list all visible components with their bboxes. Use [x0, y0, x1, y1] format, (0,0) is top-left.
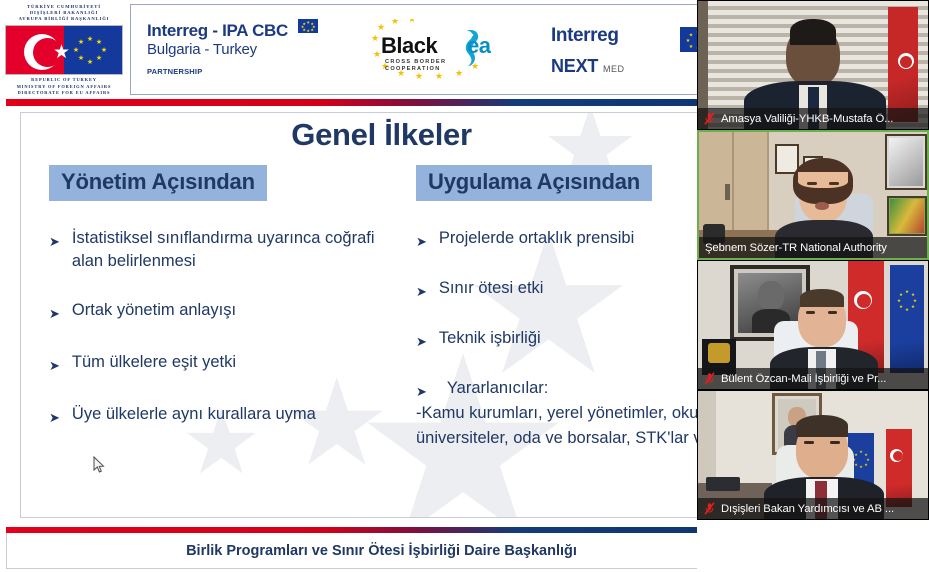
svg-text:★: ★ [854, 452, 858, 457]
bullet-item: ➤ Sınır ötesi etki [416, 277, 736, 303]
bullet-text: Sınır ötesi etki [439, 277, 736, 303]
bullet-item: ➤ İstatistiksel sınıflandırma uyarınca c… [49, 227, 399, 273]
turkey-eu-flag-graphic: ★ ★ ★ ★ ★ ★ ★ ★ ★ [5, 25, 123, 76]
next-word: NEXT [551, 56, 598, 76]
microphone-muted-icon [704, 372, 715, 385]
participant-name-bar: Şebnem Sözer-TR National Authority [699, 237, 927, 258]
svg-text:★: ★ [911, 304, 916, 309]
svg-text:★: ★ [899, 304, 904, 309]
beneficiaries-text: -Kamu kurumları, yerel yönetimler, okull… [416, 401, 736, 451]
svg-text:★: ★ [854, 462, 858, 467]
turkish-ministry-emblem: TÜRKİYE CUMHURİYETİ DIŞİŞLERİ BAKANLIĞI … [2, 3, 126, 96]
bullet-item: ➤ Ortak yönetim anlayışı [49, 299, 399, 325]
chevron-right-icon: ➤ [49, 351, 60, 377]
svg-text:★: ★ [859, 449, 863, 454]
participant-name-bar: Dışişleri Bakan Yardımcısı ve AB ... [698, 498, 928, 519]
bullet-text: Üye ülkelerle aynı kurallara uyma [72, 403, 399, 429]
chevron-right-icon: ➤ [416, 227, 427, 253]
meeting-screen-share-window: TÜRKİYE CUMHURİYETİ DIŞİŞLERİ BAKANLIĞI … [0, 0, 929, 572]
bullet-item: ➤ Tüm ülkelere eşit yetki [49, 351, 399, 377]
svg-text:★: ★ [87, 35, 93, 43]
svg-text:★: ★ [686, 38, 691, 44]
chevron-right-icon: ➤ [416, 327, 427, 353]
right-column-heading: Uygulama Açısından [416, 165, 652, 201]
bullet-text: Tüm ülkelere eşit yetki [72, 351, 399, 377]
svg-text:★: ★ [864, 462, 868, 467]
interreg-ipa-cbc-logo: Interreg - IPA CBC ★ ★ ★ ★ ★ ★ ★ ★ [147, 19, 318, 76]
chevron-right-icon: ➤ [416, 277, 427, 303]
participant-name: Şebnem Sözer-TR National Authority [705, 242, 887, 254]
black-sea-basin-logo: ★★ ★ ★ ★★ ★★ ★★ ★ Black ea [363, 17, 523, 87]
participant-name: Amasya Valiliği-YHKB-Mustafa Ö... [721, 113, 893, 125]
bullet-text: Teknik işbirliği [439, 327, 736, 353]
svg-text:★: ★ [391, 19, 399, 26]
svg-text:★: ★ [905, 307, 910, 312]
blacksea-word-sea: ea [467, 33, 490, 59]
svg-text:★: ★ [96, 54, 102, 62]
bullet-item: ➤ Teknik işbirliği [416, 327, 736, 353]
svg-text:★: ★ [913, 298, 918, 303]
video-tile[interactable]: ★ ★ ★ ★ ★ ★ ★ ★ [697, 260, 929, 390]
svg-text:★: ★ [73, 46, 79, 54]
slide-right-column: Uygulama Açısından ➤ Projelerde ortaklık… [416, 165, 736, 451]
svg-text:★: ★ [78, 38, 84, 46]
mouse-cursor-icon [93, 456, 105, 474]
bullet-text: İstatistiksel sınıflandırma uyarınca coğ… [72, 227, 399, 273]
svg-text:★: ★ [689, 44, 694, 50]
video-tile[interactable]: ★ ★ ★ ★ ★ ★ ★ ★ [697, 390, 929, 520]
microphone-muted-icon [704, 502, 715, 515]
video-tile-active-speaker[interactable]: Şebnem Sözer-TR National Authority [697, 130, 929, 260]
beneficiaries-label: Yararlanıcılar: [439, 377, 736, 403]
svg-text:★: ★ [899, 292, 904, 297]
svg-text:★: ★ [87, 58, 93, 66]
svg-text:★: ★ [78, 54, 84, 62]
video-tile[interactable]: Amasya Valiliği-YHKB-Mustafa Ö... [697, 0, 929, 130]
slide-left-column: Yönetim Açısından ➤ İstatistiksel sınıfl… [49, 165, 399, 455]
chevron-right-icon: ➤ [49, 299, 60, 325]
interreg-next-med-logo: Interreg NEXT MED [551, 25, 625, 77]
bullet-text: Projelerde ortaklık prensibi [439, 227, 736, 253]
partnership-label: PARTNERSHIP [147, 67, 318, 76]
eu-flag-icon: ★ ★ ★ ★ ★ ★ ★ ★ [298, 19, 318, 33]
participant-name-bar: Bülent Özcan-Mali İşbirliği ve Pr... [698, 368, 928, 389]
interreg-ipa-subtitle: Bulgaria - Turkey [147, 41, 318, 58]
svg-text:★: ★ [371, 33, 379, 43]
svg-text:★: ★ [373, 49, 381, 59]
chevron-right-icon: ➤ [49, 403, 60, 429]
participant-name-bar: Amasya Valiliği-YHKB-Mustafa Ö... [698, 108, 928, 129]
slide-content: ★ ★ ★ ★ ★ Genel İlkeler Yönetim Açısında… [20, 112, 741, 518]
right-column-bullets: ➤ Projelerde ortaklık prensibi ➤ Sınır ö… [416, 227, 736, 451]
svg-text:★: ★ [455, 68, 463, 78]
slide-footer: Birlik Programları ve Sınır Ötesi İşbirl… [6, 533, 757, 569]
svg-text:★: ★ [689, 33, 694, 39]
left-column-bullets: ➤ İstatistiksel sınıflandırma uyarınca c… [49, 227, 399, 429]
blacksea-word-black: Black [381, 33, 437, 59]
beneficiaries-bullet: ➤ Yararlanıcılar: [416, 377, 736, 403]
footer-text: Birlik Programları ve Sınır Ötesi İşbirl… [186, 543, 577, 559]
svg-text:★: ★ [897, 298, 902, 303]
bullet-item: ➤ Projelerde ortaklık prensibi [416, 227, 736, 253]
presentation-header-logos: TÜRKİYE CUMHURİYETİ DIŞİŞLERİ BAKANLIĞI … [0, 0, 761, 99]
blacksea-subtitle: CROSS BORDER COOPERATION [385, 59, 446, 73]
svg-text:★: ★ [96, 38, 102, 46]
eu-stars-icon: ★ ★ ★ ★ ★ ★ ★ ★ [72, 32, 114, 72]
interreg-next-word: Interreg [551, 25, 625, 47]
slide-title: Genel İlkeler [21, 117, 741, 153]
svg-text:★: ★ [306, 29, 310, 33]
left-column-heading: Yönetim Açısından [49, 165, 267, 201]
svg-text:★: ★ [911, 292, 916, 297]
chevron-right-icon: ➤ [49, 227, 60, 273]
svg-text:★: ★ [302, 22, 306, 26]
programme-logos-box: Interreg - IPA CBC ★ ★ ★ ★ ★ ★ ★ ★ [130, 4, 758, 95]
svg-text:★: ★ [101, 46, 107, 54]
svg-text:★: ★ [408, 19, 416, 24]
med-word: MED [603, 64, 625, 74]
emblem-turkish-text: TÜRKİYE CUMHURİYETİ DIŞİŞLERİ BAKANLIĞI … [2, 3, 126, 23]
participant-name: Bülent Özcan-Mali İşbirliği ve Pr... [721, 373, 886, 385]
svg-text:★: ★ [859, 464, 863, 469]
svg-text:★: ★ [905, 289, 910, 294]
bullet-text: Ortak yönetim anlayışı [72, 299, 399, 325]
participant-video-filmstrip[interactable]: Amasya Valiliği-YHKB-Mustafa Ö... [697, 0, 929, 520]
microphone-muted-icon [704, 112, 715, 125]
svg-text:★: ★ [377, 22, 385, 32]
svg-text:★: ★ [310, 28, 314, 32]
filmstrip-bottom-area [697, 520, 929, 572]
interreg-ipa-title: Interreg - IPA CBC [147, 21, 288, 40]
emblem-english-text: REPUBLIC OF TURKEY MINISTRY OF FOREIGN A… [2, 75, 126, 96]
participant-name: Dışişleri Bakan Yardımcısı ve AB ... [721, 503, 894, 515]
bullet-item: ➤ Üye ülkelerle aynı kurallara uyma [49, 403, 399, 429]
chevron-right-icon: ➤ [416, 377, 427, 403]
shared-presentation-area[interactable]: TÜRKİYE CUMHURİYETİ DIŞİŞLERİ BAKANLIĞI … [0, 0, 761, 572]
svg-text:★: ★ [306, 21, 310, 25]
header-gradient-divider [6, 99, 757, 106]
